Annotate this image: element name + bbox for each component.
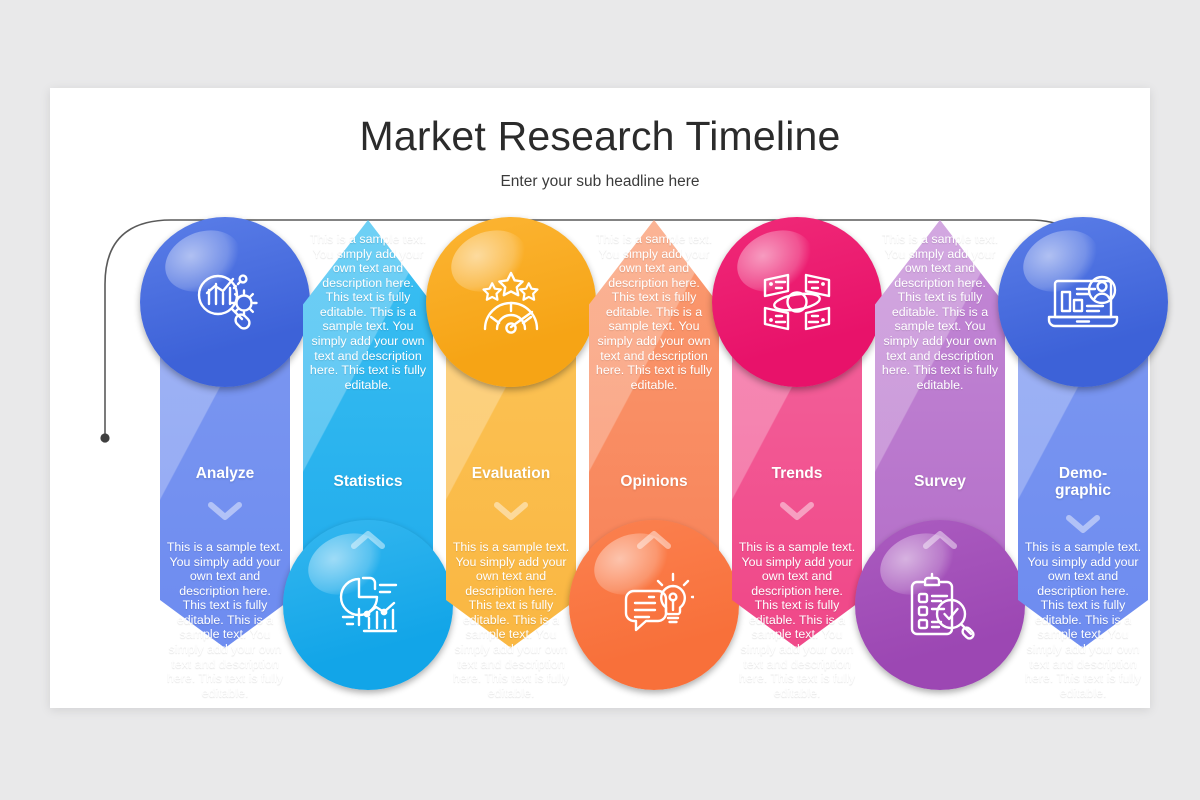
- icon-badge-laptop-user-report[interactable]: [998, 217, 1168, 387]
- icon-badge-analytics-magnifier-gear[interactable]: [140, 217, 310, 387]
- chevron-down-icon: [1018, 515, 1148, 535]
- column-label: Trends: [732, 465, 862, 482]
- chevron-down-icon: [160, 502, 290, 522]
- timeline-column-evaluation[interactable]: EvaluationThis is a sample text. You sim…: [446, 88, 576, 708]
- chevron-up-icon: [303, 530, 433, 550]
- chevron-up-icon: [589, 530, 719, 550]
- column-body-text: This is a sample text. You simply add yo…: [738, 540, 856, 700]
- timeline-column-trends[interactable]: TrendsThis is a sample text. You simply …: [732, 88, 862, 708]
- icon-badge-rating-gauge-stars[interactable]: [426, 217, 596, 387]
- column-label: Analyze: [160, 465, 290, 482]
- column-body-text: This is a sample text. You simply add yo…: [1024, 540, 1142, 700]
- column-body-text: This is a sample text. You simply add yo…: [881, 232, 999, 392]
- timeline-column-survey[interactable]: SurveyThis is a sample text. You simply …: [875, 88, 1005, 708]
- column-body-text: This is a sample text. You simply add yo…: [595, 232, 713, 392]
- chevron-down-icon: [446, 502, 576, 522]
- column-body-text: This is a sample text. You simply add yo…: [452, 540, 570, 700]
- timeline-column-statistics[interactable]: StatisticsThis is a sample text. You sim…: [303, 88, 433, 708]
- column-body-text: This is a sample text. You simply add yo…: [309, 232, 427, 392]
- timeline-column-analyze[interactable]: AnalyzeThis is a sample text. You simply…: [160, 88, 290, 708]
- slide-canvas: Market Research Timeline Enter your sub …: [50, 88, 1150, 708]
- chevron-down-icon: [732, 502, 862, 522]
- chevron-up-icon: [875, 530, 1005, 550]
- timeline-column-opinions[interactable]: OpinionsThis is a sample text. You simpl…: [589, 88, 719, 708]
- column-label: Statistics: [303, 473, 433, 490]
- timeline-columns: AnalyzeThis is a sample text. You simply…: [50, 88, 1150, 708]
- timeline-column-demographic[interactable]: Demo- graphicThis is a sample text. You …: [1018, 88, 1148, 708]
- icon-badge-global-network-panels[interactable]: [712, 217, 882, 387]
- column-body-text: This is a sample text. You simply add yo…: [166, 540, 284, 700]
- column-label: Survey: [875, 473, 1005, 490]
- column-label: Evaluation: [446, 465, 576, 482]
- column-label: Demo- graphic: [1018, 465, 1148, 500]
- column-label: Opinions: [589, 473, 719, 490]
